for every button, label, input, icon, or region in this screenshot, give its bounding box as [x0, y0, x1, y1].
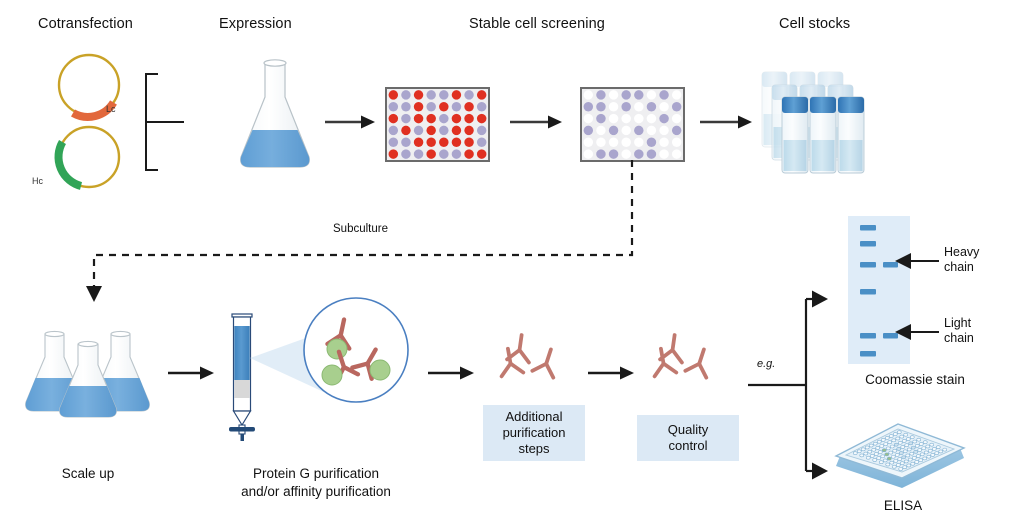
elisa-well	[903, 450, 907, 453]
arrow-selected-to-stocks	[700, 114, 754, 130]
additional-line-2: purification	[503, 425, 566, 441]
plasmid-label-hc: Hc	[32, 176, 43, 186]
dense-plate-well	[464, 126, 473, 135]
elisa-well	[868, 450, 872, 453]
dense-plate-well	[477, 90, 486, 99]
dense-plate-well	[401, 138, 410, 147]
elisa-well	[899, 467, 903, 470]
dense-plate-well	[452, 90, 461, 99]
dense-plate-well	[389, 90, 398, 99]
sparse-plate-well	[621, 149, 630, 158]
elisa-well	[915, 460, 919, 463]
elisa-plate	[832, 416, 968, 494]
dense-plate-well	[452, 114, 461, 123]
sparse-plate-well	[596, 114, 605, 123]
elisa-well	[917, 438, 921, 441]
elisa-well	[909, 442, 913, 445]
elisa-well	[888, 441, 892, 444]
elisa-well	[936, 446, 940, 449]
dense-plate-well	[389, 126, 398, 135]
elisa-well	[881, 438, 885, 441]
elisa-well	[884, 443, 888, 446]
dense-plate-well	[464, 138, 473, 147]
dense-plate-well	[477, 149, 486, 158]
elisa-well	[872, 448, 876, 451]
sparse-plate-well	[584, 114, 593, 123]
sparse-plate-well	[634, 90, 643, 99]
sparse-plate-well	[659, 126, 668, 135]
dense-plate-well	[464, 149, 473, 158]
elisa-well	[882, 449, 886, 452]
dense-plate-well	[401, 102, 410, 111]
elisa-well	[869, 444, 873, 447]
dense-plate-well	[389, 114, 398, 123]
elisa-well	[890, 445, 894, 448]
dense-plate-well	[426, 138, 435, 147]
sparse-plate-well	[609, 114, 618, 123]
elisa-well	[861, 448, 865, 451]
workflow-diagram: Cotransfection Expression Stable cell sc…	[0, 0, 1014, 526]
elisa-well	[923, 441, 927, 444]
sparse-plate-well	[609, 138, 618, 147]
elisa-well	[897, 431, 901, 434]
dense-plate-well	[426, 114, 435, 123]
dense-plate-well	[477, 138, 486, 147]
dense-plate-well	[477, 102, 486, 111]
sparse-plate-well	[647, 90, 656, 99]
sparse-plate-well	[672, 90, 681, 99]
dense-plate-well	[401, 149, 410, 158]
dense-plate-well	[477, 114, 486, 123]
heading-stable-cell-screening: Stable cell screening	[469, 16, 605, 32]
elisa-well	[928, 449, 932, 452]
elisa-well	[919, 459, 923, 462]
elisa-well	[876, 446, 880, 449]
elisa-well	[935, 452, 939, 455]
plasmid-bracket	[144, 72, 190, 172]
elisa-well	[880, 445, 884, 448]
sparse-plate-well	[634, 102, 643, 111]
elisa-well	[892, 439, 896, 442]
elisa-well	[893, 433, 897, 436]
light-chain-line-2: chain	[944, 331, 974, 346]
sparse-plate-well	[647, 138, 656, 147]
elisa-well	[939, 450, 943, 453]
sparse-plate-well	[634, 126, 643, 135]
elisa-well	[885, 436, 889, 439]
sparse-plate-well	[584, 90, 593, 99]
screening-plate-dense	[385, 87, 490, 162]
dense-plate-well	[477, 126, 486, 135]
sparse-plate-well	[659, 90, 668, 99]
elisa-well	[892, 465, 896, 468]
elisa-well	[907, 448, 911, 451]
elisa-well	[873, 458, 877, 461]
dense-plate-well	[426, 126, 435, 135]
dense-plate-well	[439, 102, 448, 111]
dense-plate-well	[426, 90, 435, 99]
arrow-scaleup-to-purification	[168, 365, 216, 381]
elisa-well	[866, 456, 870, 459]
elisa-well	[916, 455, 920, 458]
dense-plate-well	[452, 149, 461, 158]
arrow-additional-to-qc	[588, 365, 636, 381]
antibody-cluster-qc	[645, 330, 729, 388]
dense-plate-well	[439, 114, 448, 123]
elisa-well	[910, 452, 914, 455]
sparse-plate-well	[584, 126, 593, 135]
dense-plate-well	[414, 138, 423, 147]
arrow-purification-to-additional	[428, 365, 476, 381]
heading-cell-stocks: Cell stocks	[779, 16, 850, 32]
heavy-chain-line-2: chain	[944, 260, 979, 275]
sparse-plate-well	[609, 102, 618, 111]
dense-plate-well	[464, 114, 473, 123]
elisa-well	[865, 446, 869, 449]
sparse-plate-well	[596, 102, 605, 111]
elisa-well	[894, 443, 898, 446]
sparse-plate-well	[672, 126, 681, 135]
cell-stocks-vials	[758, 60, 888, 175]
elisa-well	[901, 446, 905, 449]
sparse-plate-well	[621, 90, 630, 99]
eg-label: e.g.	[757, 358, 775, 370]
elisa-well	[943, 448, 947, 451]
sparse-plate-well	[672, 149, 681, 158]
elisa-well	[911, 462, 915, 465]
elisa-well	[922, 447, 926, 450]
elisa-well	[890, 461, 894, 464]
dense-plate-well	[414, 126, 423, 135]
elisa-well	[912, 456, 916, 459]
elisa-well	[887, 457, 891, 460]
subculture-label: Subculture	[333, 223, 388, 235]
dense-plate-well	[439, 138, 448, 147]
heading-expression: Expression	[219, 16, 292, 32]
dense-plate-well	[414, 149, 423, 158]
elisa-well	[908, 458, 912, 461]
elisa-well	[905, 444, 909, 447]
coomassie-gel	[848, 216, 910, 364]
light-chain-label: Light chain	[944, 316, 974, 346]
caption-coomassie: Coomassie stain	[820, 372, 1010, 387]
sparse-plate-well	[659, 102, 668, 111]
elisa-well	[874, 452, 878, 455]
dense-plate-well	[452, 102, 461, 111]
elisa-well	[931, 453, 935, 456]
heavy-chain-line-1: Heavy	[944, 245, 979, 260]
dense-plate-well	[414, 102, 423, 111]
dense-plate-well	[426, 149, 435, 158]
elisa-well	[878, 451, 882, 454]
elisa-well	[918, 449, 922, 452]
dense-plate-well	[401, 114, 410, 123]
sparse-plate-well	[659, 149, 668, 158]
elisa-well	[904, 433, 908, 436]
expression-flask	[232, 57, 318, 172]
sparse-plate-well	[584, 149, 593, 158]
elisa-well	[896, 437, 900, 440]
dense-plate-well	[414, 90, 423, 99]
dense-plate-well	[452, 126, 461, 135]
dense-plate-well	[389, 102, 398, 111]
elisa-well	[896, 463, 900, 466]
dense-plate-well	[464, 102, 473, 111]
elisa-well	[873, 442, 877, 445]
elisa-well	[853, 452, 857, 455]
elisa-well	[877, 457, 881, 460]
elisa-well	[904, 460, 908, 463]
elisa-well	[899, 452, 903, 455]
heavy-chain-label: Heavy chain	[944, 245, 979, 275]
elisa-well	[886, 447, 890, 450]
elisa-well	[864, 452, 868, 455]
elisa-well	[913, 440, 917, 443]
magnifier-circle	[302, 296, 410, 404]
elisa-well	[885, 453, 889, 456]
elisa-well	[881, 455, 885, 458]
elisa-well	[893, 449, 897, 452]
dense-plate-well	[439, 149, 448, 158]
sparse-plate-well	[584, 138, 593, 147]
sparse-plate-well	[659, 114, 668, 123]
elisa-well	[889, 451, 893, 454]
elisa-well	[898, 458, 902, 461]
dense-plate-well	[439, 126, 448, 135]
sparse-plate-well	[634, 149, 643, 158]
additional-line-3: steps	[503, 441, 566, 457]
elisa-well	[910, 436, 914, 439]
caption-purification-line2: and/or affinity purification	[216, 484, 416, 499]
dense-plate-well	[401, 126, 410, 135]
antibody-cluster-additional	[492, 330, 576, 388]
light-chain-line-1: Light	[944, 316, 974, 331]
elisa-well	[877, 440, 881, 443]
sparse-plate-well	[647, 102, 656, 111]
elisa-well	[900, 435, 904, 438]
elisa-well	[883, 459, 887, 462]
elisa-well	[926, 445, 930, 448]
sparse-plate-well	[672, 138, 681, 147]
elisa-well	[915, 444, 919, 447]
branch-connector	[748, 285, 830, 485]
elisa-well	[914, 450, 918, 453]
elisa-well	[857, 450, 861, 453]
sparse-plate-well	[634, 138, 643, 147]
dense-plate-well	[452, 138, 461, 147]
sparse-plate-well	[621, 102, 630, 111]
sparse-plate-well	[621, 114, 630, 123]
elisa-well	[886, 463, 890, 466]
additional-line-1: Additional	[503, 409, 566, 425]
sparse-plate-well	[596, 138, 605, 147]
sparse-plate-well	[609, 126, 618, 135]
elisa-well	[889, 435, 893, 438]
dense-plate-well	[389, 149, 398, 158]
elisa-well	[900, 462, 904, 465]
elisa-well	[920, 453, 924, 456]
sparse-plate-well	[596, 90, 605, 99]
elisa-well	[860, 454, 864, 457]
sparse-plate-well	[634, 114, 643, 123]
sparse-plate-well	[609, 149, 618, 158]
elisa-well	[927, 455, 931, 458]
sparse-plate-well	[621, 138, 630, 147]
sparse-plate-well	[596, 126, 605, 135]
quality-control-box: Quality control	[637, 415, 739, 461]
elisa-well	[894, 459, 898, 462]
elisa-well	[870, 454, 874, 457]
sparse-plate-well	[609, 90, 618, 99]
caption-purification-line1: Protein G purification	[216, 466, 416, 481]
elisa-well	[923, 457, 927, 460]
plasmid-label-lc: Lc	[106, 104, 116, 114]
sparse-plate-well	[584, 102, 593, 111]
elisa-well	[907, 464, 911, 467]
dense-plate-well	[401, 90, 410, 99]
elisa-well	[932, 447, 936, 450]
elisa-well	[919, 442, 923, 445]
sparse-plate-well	[647, 149, 656, 158]
elisa-well	[924, 451, 928, 454]
sparse-plate-well	[596, 149, 605, 158]
elisa-well	[902, 456, 906, 459]
elisa-well	[895, 453, 899, 456]
gel-bands-left-lane	[860, 225, 876, 357]
light-chain-pointer	[895, 323, 941, 341]
caption-scale-up: Scale up	[22, 466, 154, 481]
arrow-screening-to-selected	[510, 114, 564, 130]
dense-plate-well	[426, 102, 435, 111]
dense-plate-well	[414, 114, 423, 123]
caption-elisa: ELISA	[848, 498, 958, 513]
sparse-plate-well	[647, 126, 656, 135]
sparse-plate-well	[621, 126, 630, 135]
sparse-plate-well	[659, 138, 668, 147]
qc-line-1: Quality	[668, 422, 708, 438]
sparse-plate-well	[672, 102, 681, 111]
dense-plate-well	[464, 90, 473, 99]
elisa-well	[902, 439, 906, 442]
elisa-well	[906, 438, 910, 441]
heading-cotransfection: Cotransfection	[38, 16, 133, 32]
scale-up-flasks	[22, 330, 154, 420]
additional-purification-box: Additional purification steps	[483, 405, 585, 461]
elisa-well	[891, 455, 895, 458]
elisa-well	[906, 454, 910, 457]
qc-line-2: control	[668, 438, 708, 454]
elisa-well	[897, 447, 901, 450]
sparse-plate-well	[647, 114, 656, 123]
dense-plate-well	[439, 90, 448, 99]
elisa-well	[879, 461, 883, 464]
heavy-chain-pointer	[895, 252, 941, 270]
sparse-plate-well	[672, 114, 681, 123]
elisa-well	[903, 466, 907, 469]
elisa-well	[911, 446, 915, 449]
arrow-expression-to-screening	[325, 114, 377, 130]
screening-plate-sparse	[580, 87, 685, 162]
elisa-well	[898, 441, 902, 444]
elisa-well	[930, 443, 934, 446]
dense-plate-well	[389, 138, 398, 147]
